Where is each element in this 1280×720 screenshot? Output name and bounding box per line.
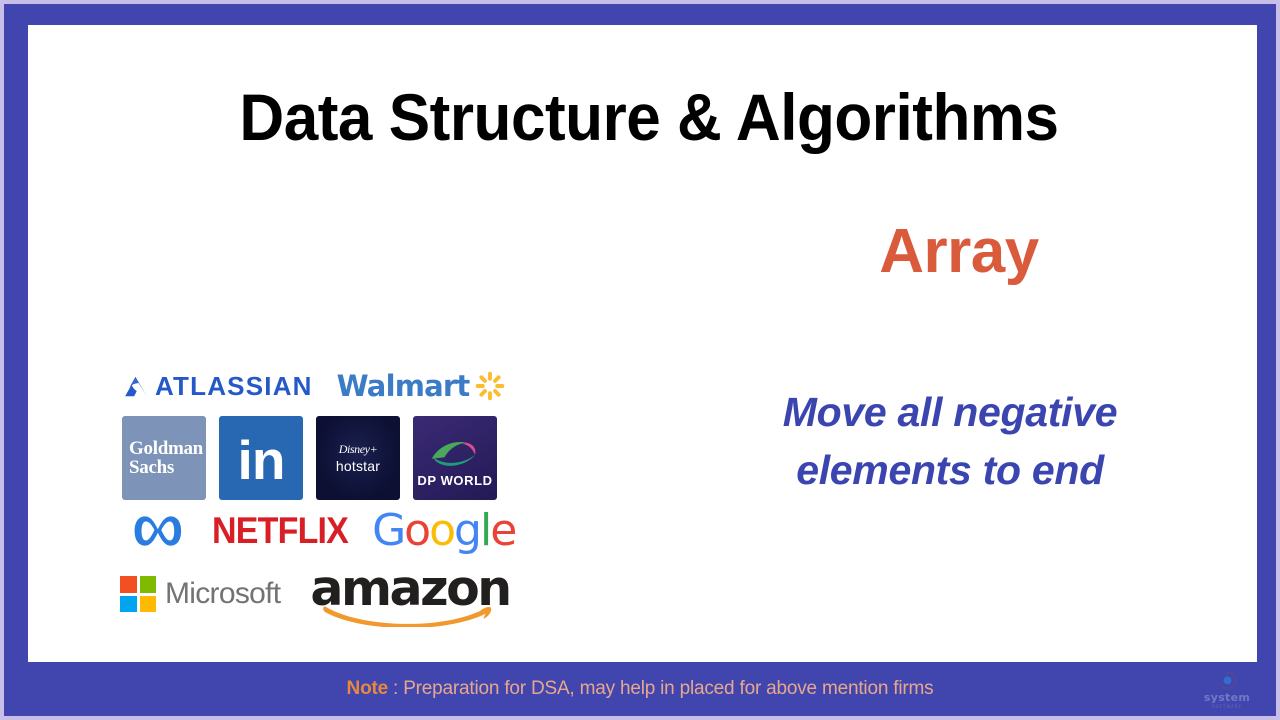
slide-root: Data Structure & Algorithms Array Move a… xyxy=(0,0,1280,720)
footer-note-text: : Preparation for DSA, may help in place… xyxy=(388,678,933,699)
slide-frame: Data Structure & Algorithms Array Move a… xyxy=(4,4,1276,716)
logo-meta xyxy=(126,511,188,551)
logo-disney-hotstar: Disney+ hotstar xyxy=(316,416,400,500)
logo-microsoft: Microsoft xyxy=(120,576,280,612)
footer-bar: Note : Preparation for DSA, may help in … xyxy=(4,662,1276,716)
logo-row: NETFLIX Google xyxy=(90,500,520,562)
microsoft-square-red xyxy=(120,576,137,593)
microsoft-square-blue xyxy=(120,596,137,613)
logo-walmart: Walmart xyxy=(337,369,506,403)
walmart-spark-icon xyxy=(475,371,505,401)
google-letter-g2: g xyxy=(454,509,480,553)
watermark-sub: SOFTWARE xyxy=(1212,704,1242,709)
dp-world-swoosh-icon xyxy=(427,437,483,471)
slide-canvas: Data Structure & Algorithms Array Move a… xyxy=(28,25,1257,662)
logo-linkedin: in xyxy=(219,416,303,500)
goldman-line1: Goldman xyxy=(129,439,203,458)
company-logo-wall: ATLASSIAN Walmart xyxy=(90,362,520,626)
logo-amazon: amazon xyxy=(310,564,509,625)
walmart-label: Walmart xyxy=(337,369,470,403)
watermark-ring-icon xyxy=(1218,671,1237,690)
microsoft-square-yellow xyxy=(140,596,157,613)
netflix-label: NETFLIX xyxy=(212,510,348,552)
google-letter-e: e xyxy=(490,509,515,553)
logo-google: Google xyxy=(372,509,515,553)
logo-row: Goldman Sachs in Disney+ hotstar xyxy=(90,416,520,500)
footer-note-label: Note xyxy=(347,678,388,699)
problem-statement: Move all negative elements to end xyxy=(700,383,1200,499)
topic-heading: Array xyxy=(728,218,1190,286)
logo-netflix: NETFLIX xyxy=(212,512,348,551)
watermark-word: system xyxy=(1204,691,1250,704)
goldman-line2: Sachs xyxy=(129,458,203,477)
logo-goldman-sachs: Goldman Sachs xyxy=(122,416,206,500)
dp-world-label: DP WORLD xyxy=(417,473,492,488)
watermark-logo: system SOFTWARE xyxy=(1196,668,1258,712)
google-letter-o2: o xyxy=(429,509,454,553)
hotstar-label: hotstar xyxy=(336,458,380,474)
meta-infinity-icon xyxy=(126,511,188,551)
google-letter-o1: o xyxy=(404,509,429,553)
logo-dp-world: DP WORLD xyxy=(413,416,497,500)
logo-atlassian: ATLASSIAN xyxy=(124,371,313,402)
atlassian-mark-icon xyxy=(124,374,148,399)
disney-label: Disney+ xyxy=(339,442,378,457)
microsoft-label: Microsoft xyxy=(165,577,280,611)
microsoft-square-green xyxy=(140,576,157,593)
goldman-sachs-label: Goldman Sachs xyxy=(125,439,203,478)
linkedin-label: in xyxy=(238,438,285,482)
page-title: Data Structure & Algorithms xyxy=(146,83,1152,152)
microsoft-squares-icon xyxy=(120,576,156,612)
atlassian-label: ATLASSIAN xyxy=(155,371,313,402)
google-letter-g1: G xyxy=(372,509,404,553)
amazon-smile-icon xyxy=(322,601,492,627)
logo-row: Microsoft amazon xyxy=(90,562,520,626)
footer-note: Note : Preparation for DSA, may help in … xyxy=(347,678,934,700)
logo-row: ATLASSIAN Walmart xyxy=(90,362,520,410)
google-letter-l: l xyxy=(480,509,490,553)
